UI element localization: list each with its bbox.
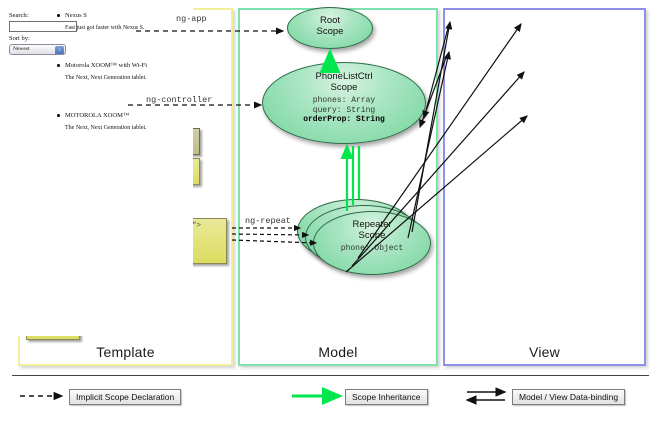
column-label-model: Model	[240, 344, 436, 360]
phone-list-item: MOTOROLA XOOM™ The Next, Next Generation…	[65, 112, 195, 131]
column-view: View	[443, 8, 646, 366]
phone-name: Motorola XOOM™ with Wi-Fi	[65, 62, 195, 69]
diagram-canvas: Template Model View <html ng-app> <body …	[0, 0, 661, 425]
legend-label-implicit-scope-declaration: Implicit Scope Declaration	[69, 389, 181, 405]
legend-label-scope-inheritance: Scope Inheritance	[345, 389, 428, 405]
search-label: Search:	[9, 12, 29, 19]
sort-by-select[interactable]: Newest ↕	[9, 44, 66, 55]
column-label-template: Template	[20, 344, 231, 360]
legend-label-model-view-data-binding: Model / View Data-binding	[512, 389, 625, 405]
phone-snippet: Fast just got faster with Nexus S.	[65, 25, 195, 31]
phone-name: MOTOROLA XOOM™	[65, 112, 195, 119]
phonelist-scope: PhoneListCtrl Scope phones: Array query:…	[262, 62, 426, 144]
scope-prop-phones: phones: Array	[263, 96, 425, 106]
list-bullet-icon	[57, 14, 60, 17]
phonelist-scope-title: PhoneListCtrl Scope	[263, 63, 425, 93]
scope-prop-phone: phone: Object	[314, 244, 430, 254]
sort-by-selected-value: Newest	[13, 46, 30, 52]
list-bullet-icon	[57, 114, 60, 117]
list-bullet-icon	[57, 64, 60, 67]
repeater-scope: Repeater Scope phone: Object	[313, 211, 431, 275]
legend-icon-model-view-data-binding	[467, 392, 505, 400]
connector-label-ng-app: ng-app	[176, 14, 207, 24]
scope-prop-query: query: String	[263, 106, 425, 116]
phone-snippet: The Next, Next Generation tablet.	[65, 125, 195, 131]
legend-divider	[12, 375, 649, 376]
phonelist-scope-props: phones: Array query: String orderProp: S…	[263, 96, 425, 125]
scope-prop-orderprop: orderProp: String	[263, 115, 425, 125]
root-scope-title: Root Scope	[288, 8, 372, 37]
sort-by-label: Sort by:	[9, 35, 30, 42]
phone-list-item: Motorola XOOM™ with Wi-Fi The Next, Next…	[65, 62, 195, 81]
repeater-scope-props: phone: Object	[314, 244, 430, 254]
repeater-scope-title: Repeater Scope	[314, 212, 430, 241]
chevron-down-icon: ↕	[55, 46, 64, 55]
phone-snippet: The Next, Next Generation tablet.	[65, 75, 195, 81]
view-browser-pane: Search: Sort by: Newest ↕ Nexus S Fast j…	[7, 6, 193, 336]
connector-label-ng-controller: ng-controller	[146, 95, 212, 105]
column-label-view: View	[445, 344, 644, 360]
root-scope: Root Scope	[287, 7, 373, 49]
connector-label-ng-repeat: ng-repeat	[245, 216, 291, 226]
